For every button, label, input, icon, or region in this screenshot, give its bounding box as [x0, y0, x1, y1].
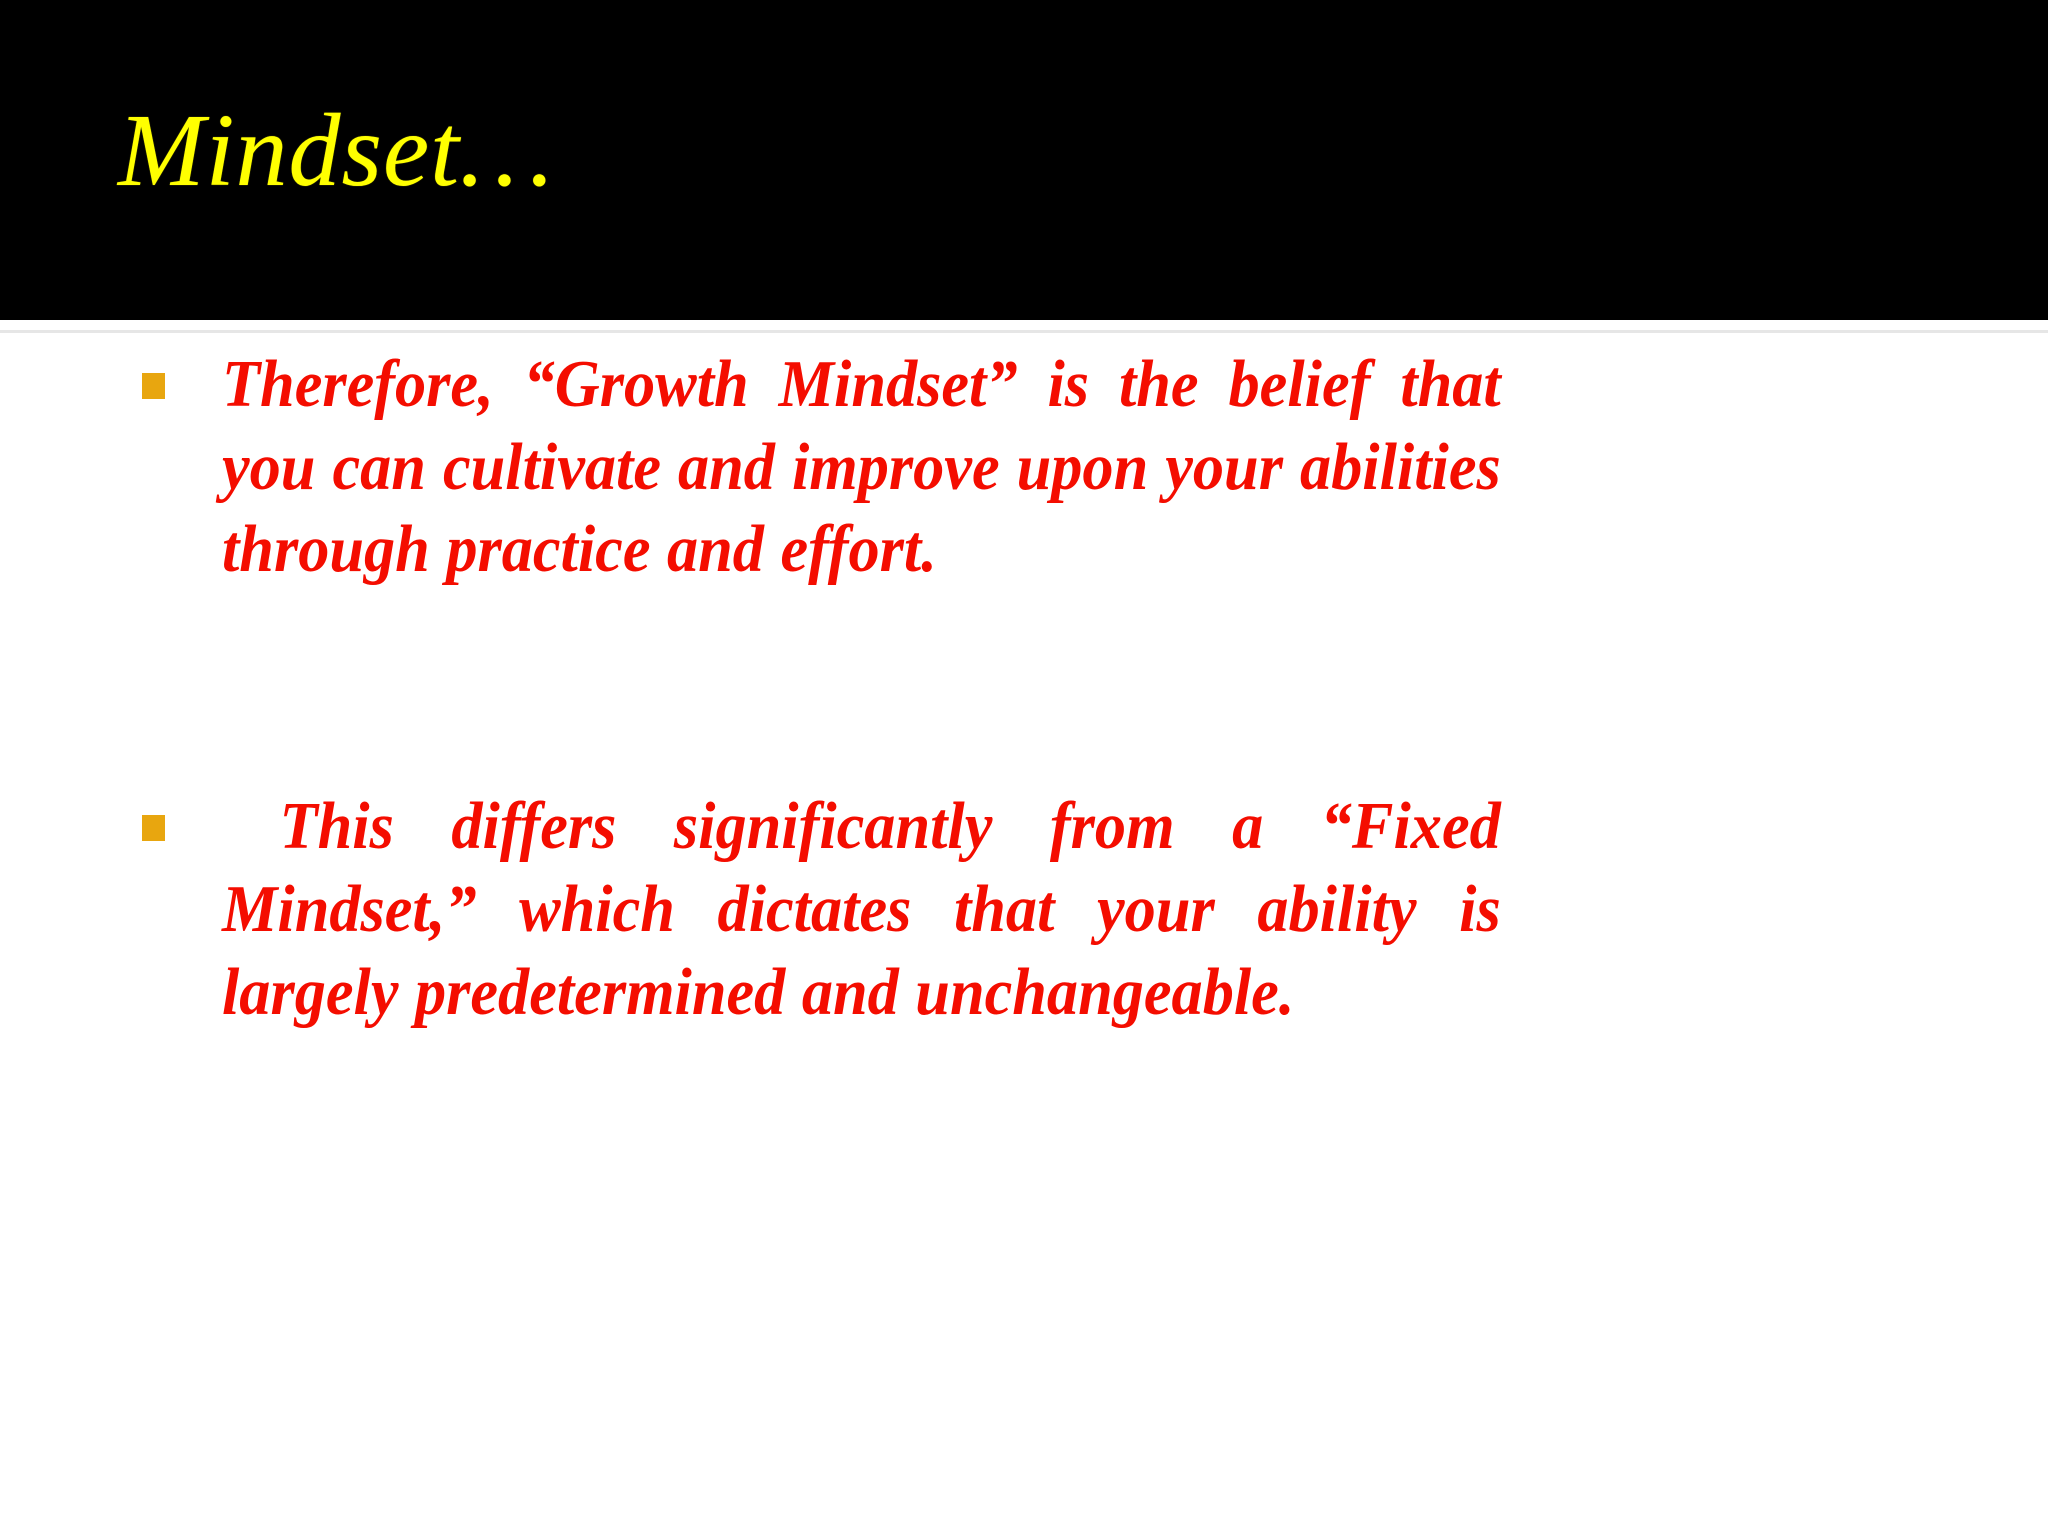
presentation-slide: Mindset… Therefore, “Growth Mindset” is … [0, 0, 2048, 1536]
bullet-paragraph-2: This differs significantly from a “Fixed… [222, 785, 1501, 1033]
list-item[interactable]: Therefore, “Growth Mindset” is the belie… [140, 343, 1500, 591]
title-band: Mindset… [0, 0, 2048, 320]
bullet-list: Therefore, “Growth Mindset” is the belie… [140, 343, 1500, 1115]
square-bullet-icon [142, 373, 165, 399]
bullet-spacer [140, 673, 1500, 785]
slide-title: Mindset… [118, 96, 554, 205]
bullet-paragraph-1: Therefore, “Growth Mindset” is the belie… [222, 343, 1501, 591]
square-bullet-icon [142, 815, 165, 841]
slide-body: Therefore, “Growth Mindset” is the belie… [0, 333, 2048, 1536]
list-item[interactable]: This differs significantly from a “Fixed… [140, 785, 1500, 1033]
